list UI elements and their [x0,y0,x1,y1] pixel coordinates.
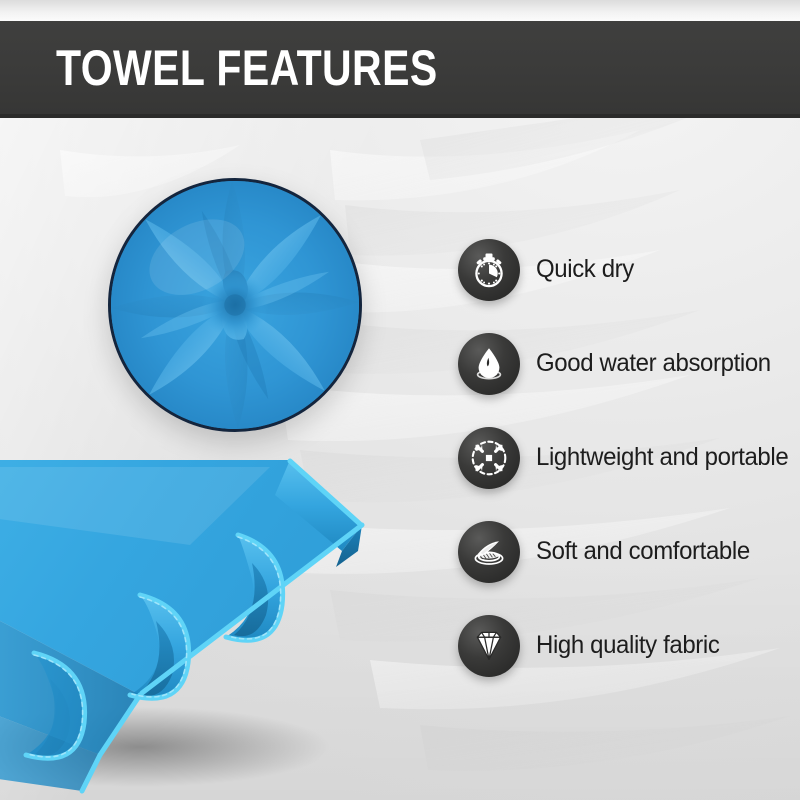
feature-item-soft-comfortable[interactable]: Soft and comfortable [458,514,800,590]
fabric-swirl-border [108,178,362,432]
folded-towel-image [0,455,410,800]
feature-label: Quick dry [536,256,634,284]
page-title: TOWEL FEATURES [56,43,438,93]
feature-list: Quick dry Good water absorption [458,232,800,684]
feature-item-water-absorption[interactable]: Good water absorption [458,326,800,402]
folded-towel-graphic [0,455,410,800]
feature-label: High quality fabric [536,632,719,660]
feature-label: Soft and comfortable [536,538,750,566]
feature-label: Good water absorption [536,350,771,378]
fabric-swirl-graphic [111,181,359,429]
feature-label: Lightweight and portable [536,444,788,472]
water-drop-icon [458,333,520,395]
diamond-icon [458,615,520,677]
header-top-strip [0,0,800,22]
feature-item-lightweight-portable[interactable]: Lightweight and portable [458,420,800,496]
feature-item-quick-dry[interactable]: Quick dry [458,232,800,308]
expand-arrows-icon [458,427,520,489]
header-banner: TOWEL FEATURES [0,21,800,118]
stopwatch-icon [458,239,520,301]
fabric-swirl-image [108,178,362,432]
feature-item-high-quality-fabric[interactable]: High quality fabric [458,608,800,684]
folded-fabric-icon [458,521,520,583]
product-infographic: TOWEL FEATURES [0,0,800,800]
